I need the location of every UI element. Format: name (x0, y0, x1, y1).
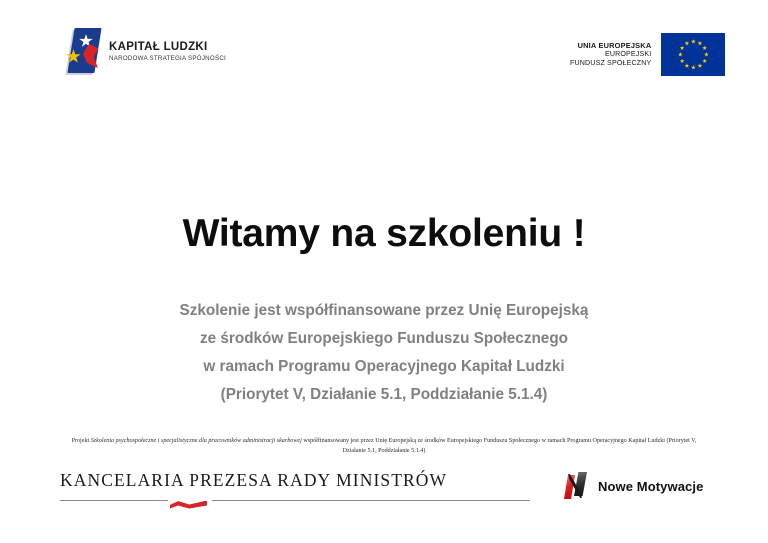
kapital-ludzki-emblem-icon (66, 28, 100, 75)
kapital-ludzki-subtitle: NARODOWA STRATEGIA SPÓJNOŚCI (109, 56, 226, 63)
funding-line-2: ze środków Europejskiego Funduszu Społec… (0, 325, 768, 353)
eu-star-icon (680, 59, 685, 64)
polish-flag-icon (168, 495, 212, 511)
project-disclaimer: Projekt Szkolenia psychospołeczne i spec… (64, 437, 704, 456)
eu-star-icon (697, 41, 702, 46)
divider-line (60, 500, 530, 501)
eu-line-1: UNIA EUROPEJSKA (570, 41, 651, 50)
kapital-ludzki-wordmark: KAPITAŁ LUDZKI NARODOWA STRATEGIA SPÓJNO… (109, 41, 226, 62)
slide-title: Witamy na szkoleniu ! (0, 212, 768, 256)
eu-star-icon (697, 63, 702, 68)
funding-line-4: (Priorytet V, Działanie 5.1, Poddziałani… (0, 381, 768, 409)
kprm-logo: KANCELARIA PREZESA RADY MINISTRÓW (60, 472, 540, 508)
funding-line-1: Szkolenie jest współfinansowane przez Un… (0, 297, 768, 325)
kapital-ludzki-logo: KAPITAŁ LUDZKI NARODOWA STRATEGIA SPÓJNO… (66, 28, 226, 75)
kapital-ludzki-title: KAPITAŁ LUDZKI (109, 41, 226, 53)
eu-line-2: EUROPEJSKI (570, 50, 651, 59)
n-mark-dark-stroke (574, 472, 587, 496)
nowe-motywacje-name: Nowe Motywacje (598, 479, 703, 494)
eu-star-icon (704, 52, 709, 57)
eu-star-icon (691, 65, 696, 70)
disclaimer-project-name: Szkolenia psychospołeczne i specjalistyc… (91, 438, 302, 444)
kprm-divider (60, 496, 540, 508)
eu-star-icon (684, 63, 689, 68)
unia-europejska-logo: UNIA EUROPEJSKA EUROPEJSKI FUNDUSZ SPOŁE… (570, 33, 725, 76)
funding-statement: Szkolenie jest współfinansowane przez Un… (0, 297, 768, 409)
disclaimer-middle: współfinansowany jest przez Unię Europej… (302, 438, 566, 444)
eu-star-icon (678, 52, 683, 57)
unia-europejska-wordmark: UNIA EUROPEJSKA EUROPEJSKI FUNDUSZ SPOŁE… (570, 41, 651, 68)
flag-white-stripe (172, 496, 206, 503)
eu-star-icon (684, 41, 689, 46)
eu-flag-icon (661, 33, 725, 76)
nowe-motywacje-logo: Nowe Motywacje (563, 472, 703, 500)
eu-line-3: FUNDUSZ SPOŁECZNY (570, 59, 651, 68)
eu-star-icon (691, 39, 696, 44)
disclaimer-prefix: Projekt (72, 438, 91, 444)
funding-line-3: w ramach Programu Operacyjnego Kapitał L… (0, 353, 768, 381)
presentation-slide: KAPITAŁ LUDZKI NARODOWA STRATEGIA SPÓJNO… (0, 0, 768, 543)
eu-star-icon (702, 59, 707, 64)
eu-star-icon (702, 46, 707, 51)
nowe-motywacje-n-mark-icon (563, 472, 591, 500)
kprm-name: KANCELARIA PREZESA RADY MINISTRÓW (60, 472, 540, 490)
eu-star-icon (680, 46, 685, 51)
header-logo-band: KAPITAŁ LUDZKI NARODOWA STRATEGIA SPÓJNO… (0, 0, 768, 100)
